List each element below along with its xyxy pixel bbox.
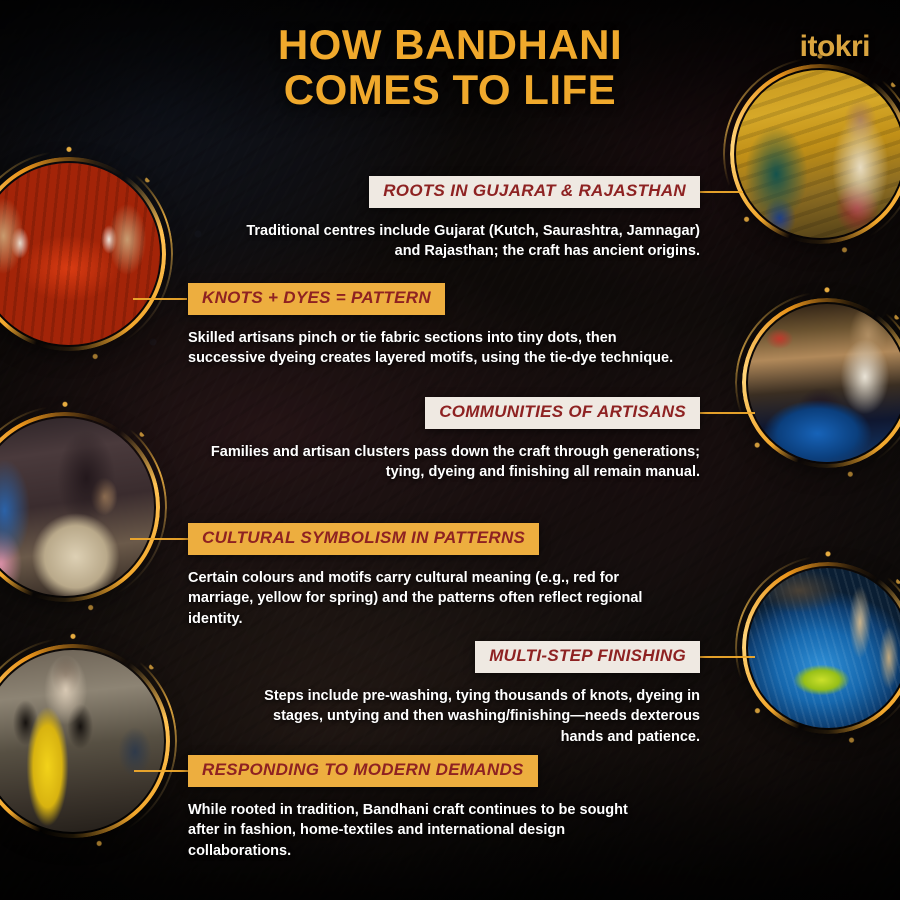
section-label-6: RESPONDING TO MODERN DEMANDS (188, 755, 538, 787)
section-label-3: COMMUNITIES OF ARTISANS (425, 397, 700, 429)
section-roots-in-gujarat-rajasthan: ROOTS IN GUJARAT & RAJASTHAN Traditional… (230, 176, 700, 262)
dyer-dipping-fabric-blue-tub-image (748, 304, 900, 462)
dyer-lifting-yellow-dyed-fabric-image (0, 650, 164, 832)
title-line-2: COMES TO LIFE (0, 67, 900, 112)
section-label-2: KNOTS + DYES = PATTERN (188, 283, 445, 315)
photo-circle-dyer-lifting-yellow-fabric (0, 650, 164, 832)
infographic-poster: HOW BANDHANI COMES TO LIFE itokri (0, 0, 900, 900)
section-body-3: Families and artisan clusters pass down … (200, 442, 700, 483)
section-label-1: ROOTS IN GUJARAT & RAJASTHAN (369, 176, 700, 208)
photo-circle-artisan-hands-tying-red-fabric (0, 163, 160, 345)
section-body-1: Traditional centres include Gujarat (Kut… (230, 221, 700, 262)
photo-circle-women-knotting-cream-fabric (0, 418, 154, 596)
connector-line-section-5 (697, 656, 755, 658)
section-body-5: Steps include pre-washing, tying thousan… (230, 686, 700, 748)
section-body-2: Skilled artisans pinch or tie fabric sec… (188, 328, 678, 369)
section-responding-to-modern-demands: RESPONDING TO MODERN DEMANDS While roote… (188, 755, 658, 861)
photo-circle-dyer-dipping-fabric (748, 304, 900, 462)
women-knotting-cream-fabric-image (0, 418, 154, 596)
section-multi-step-finishing: MULTI-STEP FINISHING Steps include pre-w… (230, 641, 700, 747)
page-title: HOW BANDHANI COMES TO LIFE (0, 22, 900, 113)
section-knots-dyes-pattern: KNOTS + DYES = PATTERN Skilled artisans … (188, 283, 678, 369)
section-body-6: While rooted in tradition, Bandhani craf… (188, 800, 658, 862)
section-body-4: Certain colours and motifs carry cultura… (188, 568, 658, 630)
brand-logo-itokri: itokri (800, 30, 870, 64)
connector-line-section-4 (130, 538, 188, 540)
connector-line-section-6 (134, 770, 188, 772)
section-label-4: CULTURAL SYMBOLISM IN PATTERNS (188, 523, 539, 555)
connector-line-section-1 (697, 191, 743, 193)
section-cultural-symbolism-in-patterns: CULTURAL SYMBOLISM IN PATTERNS Certain c… (188, 523, 658, 629)
photo-circle-blue-dye-vat (748, 568, 900, 728)
section-label-5: MULTI-STEP FINISHING (475, 641, 700, 673)
title-line-1: HOW BANDHANI (278, 21, 622, 68)
artisan-hands-tying-red-fabric-image (0, 163, 160, 345)
section-communities-of-artisans: COMMUNITIES OF ARTISANS Families and art… (200, 397, 700, 483)
connector-line-section-3 (697, 412, 755, 414)
blue-dye-vat-with-yellow-bundles-image (748, 568, 900, 728)
connector-line-section-2 (133, 298, 187, 300)
